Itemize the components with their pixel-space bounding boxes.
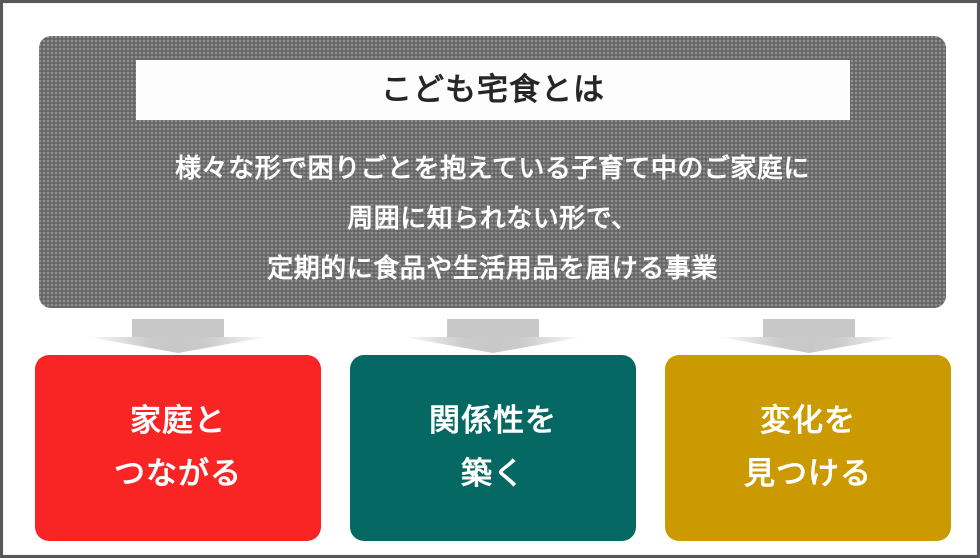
arrow-head (719, 337, 899, 353)
definition-panel: こども宅食とは 様々な形で困りごとを抱えている子育て中のご家庭に 周囲に知られな… (39, 36, 946, 308)
definition-body-line-1: 様々な形で困りごとを抱えている子育て中のご家庭に (39, 144, 946, 194)
definition-body: 様々な形で困りごとを抱えている子育て中のご家庭に 周囲に知られない形で、 定期的… (39, 144, 946, 294)
arrow-head (403, 337, 583, 353)
pillar-card-change: 変化を 見つける (665, 355, 951, 541)
pillar-family-line-2: つながる (114, 459, 242, 490)
pillar-relationship-line-1: 関係性を (429, 406, 557, 437)
definition-body-line-3: 定期的に食品や生活用品を届ける事業 (39, 244, 946, 294)
arrow-down-icon-change (719, 319, 899, 353)
pillar-card-relationship: 関係性を 築く (350, 355, 636, 541)
arrow-down-icon-relationship (403, 319, 583, 353)
definition-title-text: こども宅食とは (381, 75, 605, 106)
arrow-head (88, 337, 268, 353)
pillar-change-line-2: 見つける (744, 459, 872, 490)
arrow-stem (447, 319, 539, 337)
arrow-down-icon-family (88, 319, 268, 353)
definition-title-box: こども宅食とは (136, 60, 850, 120)
pillar-family-line-1: 家庭と (130, 406, 226, 437)
slide-canvas: こども宅食とは 様々な形で困りごとを抱えている子育て中のご家庭に 周囲に知られな… (0, 0, 980, 558)
arrow-stem (763, 319, 855, 337)
arrow-stem (132, 319, 224, 337)
definition-body-line-2: 周囲に知られない形で、 (39, 194, 946, 244)
pillar-change-line-1: 変化を (760, 406, 856, 437)
pillar-card-family: 家庭と つながる (35, 355, 321, 541)
pillar-relationship-line-2: 築く (461, 459, 525, 490)
